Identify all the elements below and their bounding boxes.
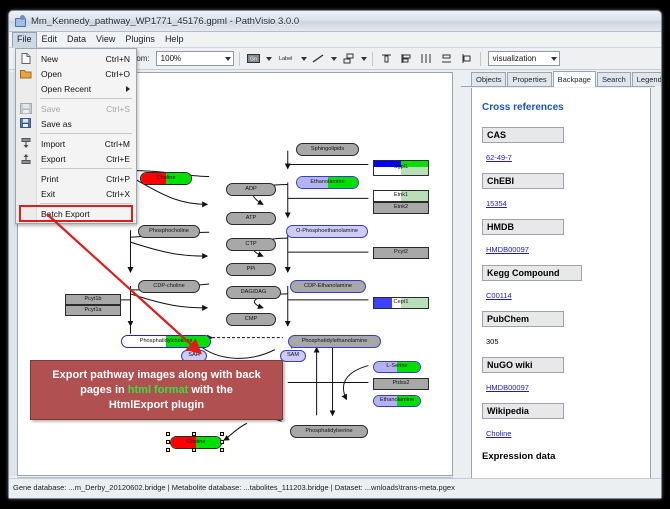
cross-references-heading: Cross references <box>482 102 640 113</box>
node-dag[interactable]: DAG/DAG <box>226 286 281 299</box>
expr-color-left <box>374 298 392 308</box>
expression-data-heading: Expression data <box>482 451 640 462</box>
node-gene-pcyt1a[interactable]: Pcyt1a <box>65 305 121 316</box>
chevron-down-icon-2 <box>551 57 557 61</box>
new-document-icon <box>20 53 32 64</box>
file-menu-batch-export[interactable]: Batch Export <box>16 206 136 221</box>
callout-line-2-highlight: html format <box>128 384 189 396</box>
visualization-value: visualization <box>493 54 537 63</box>
menu-separator-2 <box>40 133 132 134</box>
menu-separator-4 <box>40 203 132 204</box>
main-body: Choline Sphingolipids Ethanolamine ADP A… <box>9 70 661 496</box>
node-label: L-Serine <box>386 364 407 370</box>
screenshot-root: Mm_Kennedy_pathway_WP1771_45176.gpml - P… <box>0 0 670 509</box>
callout-line-2b: with the <box>188 384 233 396</box>
node-label: Pcyt2 <box>394 250 408 256</box>
file-menu-save-as-label: Save as <box>41 119 130 129</box>
xref-source-pubchem: PubChem <box>482 311 564 327</box>
node-label: PPi <box>247 267 256 273</box>
menubar: File Edit Data View Plugins Help <box>9 32 661 48</box>
node-phosphocholine[interactable]: Phosphocholine <box>138 225 200 238</box>
callout-line-2a: pages in <box>80 384 128 396</box>
file-menu-import[interactable]: Import Ctrl+M <box>16 136 136 151</box>
file-menu-export[interactable]: Export Ctrl+E <box>16 151 136 166</box>
node-label: CTP <box>245 242 256 248</box>
zoom-combobox[interactable]: 100% <box>156 51 234 66</box>
pathvisio-app-icon <box>14 15 26 27</box>
node-label: Cept1 <box>394 300 409 306</box>
node-l-serine[interactable]: L-Serine <box>373 361 421 373</box>
file-menu-new-accel: Ctrl+N <box>106 54 130 64</box>
callout-text: Export pathway images along with back pa… <box>52 368 260 413</box>
node-gene-pcyt2[interactable]: Pcyt2 <box>373 247 429 259</box>
menu-help[interactable]: Help <box>160 32 189 47</box>
side-panel-tabs: Objects Properties Backpage Search Legen… <box>461 72 655 87</box>
xref-source-cas: CAS <box>482 127 564 143</box>
stack-center-tool-button[interactable] <box>418 51 435 67</box>
node-label: Ptdss2 <box>392 381 409 387</box>
file-menu-print[interactable]: Print Ctrl+P <box>16 171 136 186</box>
node-ctp[interactable]: CTP <box>226 238 276 251</box>
save-as-icon <box>20 118 32 129</box>
node-cdp-choline[interactable]: CDP-choline <box>138 280 200 293</box>
menu-file[interactable]: File <box>12 32 37 48</box>
tab-backpage[interactable]: Backpage <box>553 71 596 87</box>
callout-line-1: Export pathway images along with back <box>52 369 260 381</box>
file-menu-batch-export-label: Batch Export <box>41 209 130 219</box>
node-label: Ethanolamine <box>310 180 344 186</box>
node-label: Phosphocholine <box>149 229 189 235</box>
node-sam[interactable]: SAM <box>280 350 306 362</box>
file-menu-exit-label: Exit <box>41 189 106 199</box>
xref-link-nugo[interactable]: HMDB00097 <box>486 383 529 392</box>
node-label: Pcyt1a <box>84 308 101 314</box>
save-disk-icon <box>20 103 32 114</box>
node-label: Sphingolipids <box>311 147 344 153</box>
datanode-dropdown-icon[interactable] <box>266 57 272 61</box>
node-label: CDP-Ethanolamine <box>304 284 352 290</box>
handle-e[interactable] <box>220 440 224 444</box>
menu-separator-3 <box>40 168 132 169</box>
group-tool-button[interactable] <box>458 51 475 67</box>
file-menu-print-label: Print <box>41 174 106 184</box>
import-icon <box>20 138 32 149</box>
anchor-tool-button[interactable] <box>340 51 357 67</box>
node-label: ATP <box>246 216 256 222</box>
file-menu-new[interactable]: New Ctrl+N <box>16 51 136 66</box>
file-menu-print-accel: Ctrl+P <box>106 174 130 184</box>
xref-source-nugo: NuGO wiki <box>482 357 564 373</box>
toolbar-separator <box>239 52 240 66</box>
file-menu-exit[interactable]: Exit Ctrl+X <box>16 186 136 201</box>
file-menu-exit-accel: Ctrl+X <box>106 189 130 199</box>
window-titlebar: Mm_Kennedy_pathway_WP1771_45176.gpml - P… <box>9 11 661 32</box>
node-label: CDP-choline <box>153 284 184 290</box>
tab-properties[interactable]: Properties <box>507 72 551 86</box>
handle-n[interactable] <box>192 432 196 436</box>
menu-edit[interactable]: Edit <box>37 32 63 47</box>
file-menu-save-label: Save <box>41 104 106 114</box>
file-menu-new-label: New <box>41 54 106 64</box>
node-label: Pcyt1b <box>84 297 101 303</box>
tab-objects[interactable]: Objects <box>471 72 506 86</box>
node-phosphatidylethanolamine[interactable]: Phosphatidylethanolamine <box>288 335 381 348</box>
file-menu-open[interactable]: Open Ctrl+O <box>16 66 136 81</box>
node-ethanolamine-bottom[interactable]: Ethanolamine <box>373 395 421 407</box>
pathvisio-main-window: Mm_Kennedy_pathway_WP1771_45176.gpml - P… <box>8 10 662 499</box>
node-adp[interactable]: ADP <box>226 183 276 196</box>
node-label: Sgpl1 <box>394 165 408 171</box>
right-side-panel: Objects Properties Backpage Search Legen… <box>461 72 655 488</box>
node-phosphatidylserine[interactable]: Phosphatidylserine <box>290 425 368 438</box>
node-label: Etnk1 <box>394 193 408 199</box>
node-label: O-Phosphoethanolamine <box>296 229 358 235</box>
status-bar: Gene database: ...m_Derby_20120602.bridg… <box>9 478 661 498</box>
callout-line-3: HtmlExport plugin <box>109 399 204 411</box>
file-menu-export-accel: Ctrl+E <box>106 154 130 164</box>
node-gene-etnk1[interactable]: Etnk1 <box>373 190 429 202</box>
menu-data[interactable]: Data <box>62 32 91 47</box>
node-gene-cept1[interactable]: Cept1 <box>373 297 429 309</box>
tab-search[interactable]: Search <box>597 72 631 86</box>
file-menu-dropdown: New Ctrl+N Open Ctrl+O Open Recent Save <box>15 48 137 224</box>
node-ppi[interactable]: PPi <box>226 263 276 276</box>
menu-plugins[interactable]: Plugins <box>120 32 160 47</box>
xref-source-chebi: ChEBI <box>482 173 564 189</box>
backpage-content: Cross references CAS 62-49-7 ChEBI 15354… <box>472 88 650 462</box>
node-phosphatidylcholines[interactable]: Phosphatidylcholines <box>121 335 211 348</box>
line-dropdown-icon[interactable] <box>331 57 337 61</box>
align-left-tool-button[interactable] <box>398 51 415 67</box>
align-top-tool-button[interactable] <box>378 51 395 67</box>
node-gene-etnk2[interactable]: Etnk2 <box>373 202 429 214</box>
svg-text:Gn: Gn <box>250 57 257 63</box>
submenu-arrow-icon <box>126 86 130 92</box>
node-gene-sgpl1[interactable]: Sgpl1 <box>373 160 429 176</box>
node-label: SAH <box>188 353 200 359</box>
node-cdp-ethanolamine[interactable]: CDP-Ethanolamine <box>290 280 366 293</box>
node-ethanolamine-top[interactable]: Ethanolamine <box>296 176 359 189</box>
handle-s[interactable] <box>192 448 196 452</box>
xref-link-kegg[interactable]: C00114 <box>486 291 512 300</box>
label-dropdown-icon[interactable] <box>301 57 307 61</box>
xref-source-kegg: Kegg Compound <box>482 265 582 281</box>
status-bar-text: Gene database: ...m_Derby_20120602.bridg… <box>13 483 455 492</box>
window-title: Mm_Kennedy_pathway_WP1771_45176.gpml - P… <box>31 16 299 27</box>
handle-se[interactable] <box>220 448 224 452</box>
node-label: Ethanolamine <box>380 398 414 404</box>
xref-link-chebi[interactable]: 15354 <box>486 199 507 208</box>
toolbar-separator-2 <box>372 52 373 66</box>
xref-link-hmdb[interactable]: HMDB00097 <box>486 245 529 254</box>
file-menu-save: Save Ctrl+S <box>16 101 136 116</box>
tab-legend[interactable]: Legend <box>632 72 662 86</box>
node-label: DAG/DAG <box>241 290 267 296</box>
node-sphingolipids[interactable]: Sphingolipids <box>296 143 359 156</box>
toolbar-separator-3 <box>480 52 481 66</box>
node-label: ADP <box>245 187 257 193</box>
zoom-value: 100% <box>161 54 181 63</box>
node-atp[interactable]: ATP <box>226 212 276 225</box>
node-cmp[interactable]: CMP <box>226 313 276 326</box>
node-label: CMP <box>245 317 257 323</box>
xref-value-pubchem: 305 <box>486 337 499 346</box>
file-menu-save-as[interactable]: Save as <box>16 116 136 131</box>
file-menu-open-accel: Ctrl+O <box>105 69 130 79</box>
selection-handles[interactable] <box>166 432 226 453</box>
handle-w[interactable] <box>166 440 170 444</box>
xref-source-hmdb: HMDB <box>482 219 564 235</box>
backpage-panel: Cross references CAS 62-49-7 ChEBI 15354… <box>471 88 651 488</box>
node-choline-top[interactable]: Choline <box>140 172 192 185</box>
handle-sw[interactable] <box>166 448 170 452</box>
node-label: SAM <box>287 353 299 359</box>
file-menu-save-accel: Ctrl+S <box>106 104 130 114</box>
node-label: Phosphatidylserine <box>305 429 352 435</box>
handle-ne[interactable] <box>220 432 224 436</box>
line-tool-button[interactable] <box>310 51 327 67</box>
node-gene-pcyt1b[interactable]: Pcyt1b <box>65 294 121 305</box>
datanode-tool-button[interactable]: Gn <box>245 51 262 67</box>
xref-source-wikipedia: Wikipedia <box>482 403 564 419</box>
anchor-dropdown-icon[interactable] <box>361 57 367 61</box>
same-width-tool-button[interactable] <box>438 51 455 67</box>
node-gene-ptdss2[interactable]: Ptdss2 <box>373 378 429 390</box>
xref-link-cas[interactable]: 62-49-7 <box>486 153 512 162</box>
file-menu-import-label: Import <box>41 139 105 149</box>
annotation-callout: Export pathway images along with back pa… <box>30 360 283 420</box>
menu-view[interactable]: View <box>91 32 120 47</box>
handle-nw[interactable] <box>166 432 170 436</box>
xref-link-wikipedia[interactable]: Choline <box>486 429 511 438</box>
file-menu-export-label: Export <box>41 154 106 164</box>
file-menu-import-accel: Ctrl+M <box>105 139 130 149</box>
visualization-combobox[interactable]: visualization <box>488 51 560 66</box>
open-folder-icon <box>20 68 32 79</box>
node-label: Choline <box>157 176 176 182</box>
export-icon <box>20 153 32 164</box>
node-o-phosphoethanolamine[interactable]: O-Phosphoethanolamine <box>286 225 368 238</box>
chevron-down-icon <box>225 57 231 61</box>
node-label: Etnk2 <box>394 205 408 211</box>
file-menu-open-recent[interactable]: Open Recent <box>16 81 136 96</box>
menu-separator-1 <box>40 98 132 99</box>
file-menu-open-label: Open <box>41 69 105 79</box>
node-label: Phosphatidylethanolamine <box>302 339 368 345</box>
file-menu-open-recent-label: Open Recent <box>41 84 126 94</box>
label-tool-button[interactable]: Label <box>275 51 297 67</box>
node-label: Phosphatidylcholines <box>140 339 193 345</box>
